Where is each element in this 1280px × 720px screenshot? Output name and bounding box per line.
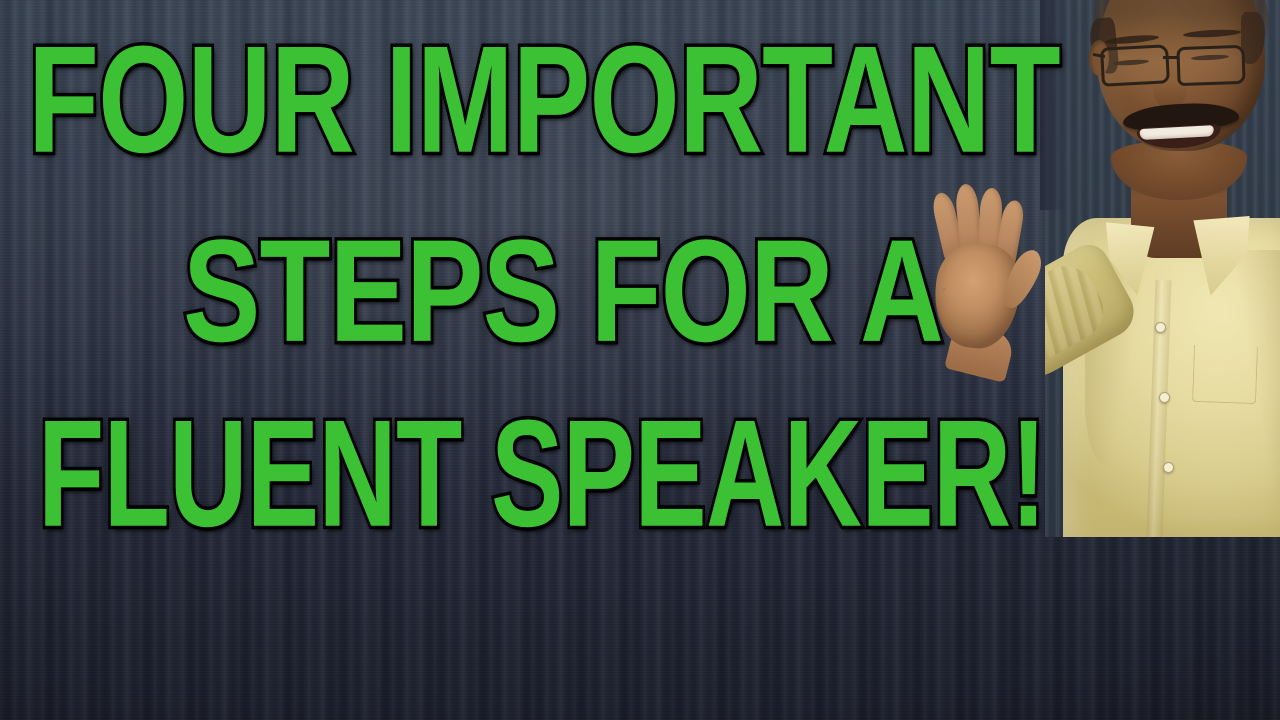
teeth	[1140, 125, 1214, 140]
shirt-button	[1159, 392, 1170, 403]
waving-hand	[905, 178, 1065, 368]
glasses-bridge	[1163, 56, 1179, 59]
shirt-button	[1155, 322, 1166, 333]
presenter-photo	[1045, 0, 1280, 537]
palm-creases	[943, 258, 1009, 328]
shirt-pocket	[1192, 345, 1258, 404]
thumbnail-canvas: FOUR IMPORTANT STEPS FOR A FLUENT SPEAKE…	[0, 0, 1280, 720]
shirt-button	[1163, 462, 1174, 473]
